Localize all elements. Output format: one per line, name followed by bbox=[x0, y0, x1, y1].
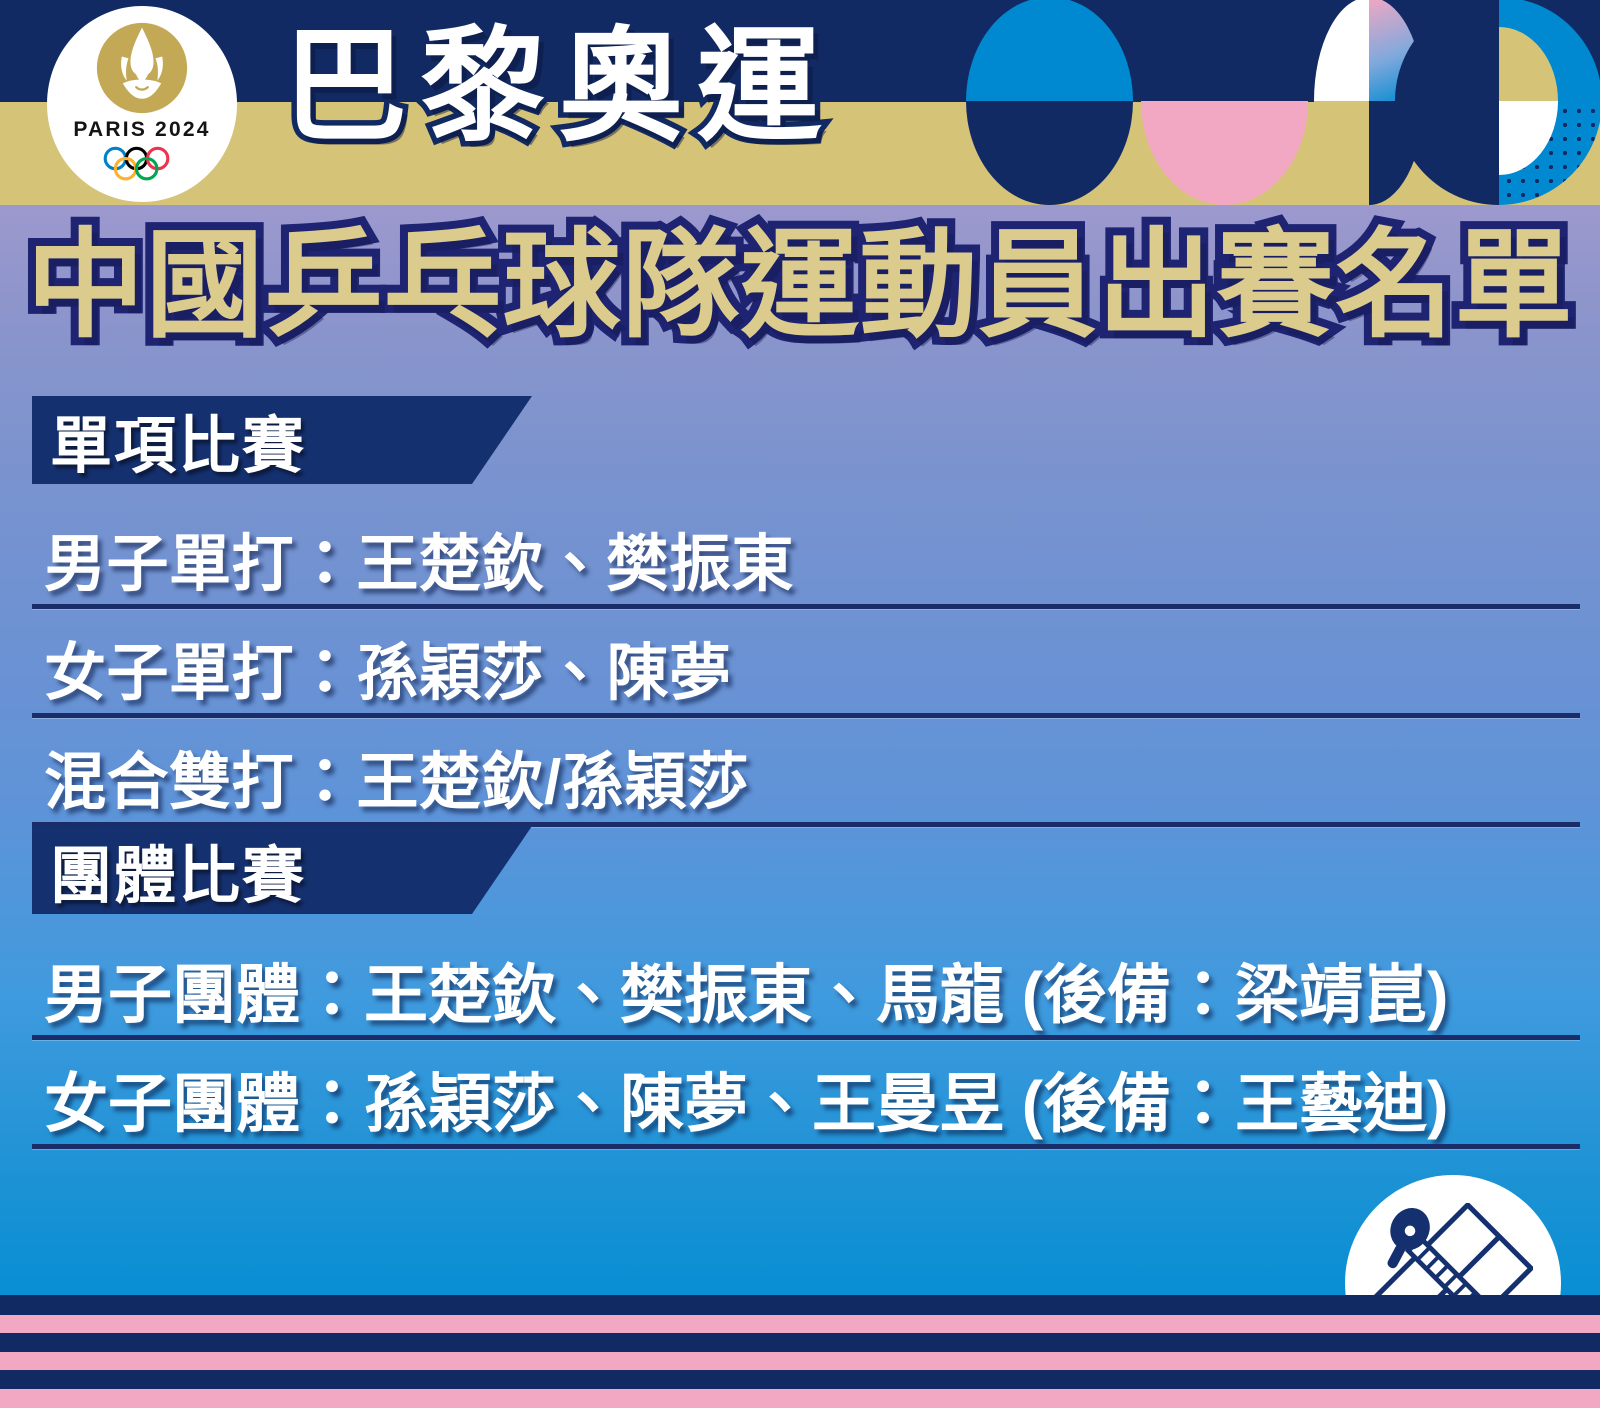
paris2024-logo: PARIS 2024 bbox=[47, 6, 237, 202]
list-item-womens-team: 女子團體：孫穎莎、陳夢、王曼昱 (後備：王藝迪) bbox=[44, 1053, 1448, 1145]
deco-circle-4-inner bbox=[1440, 27, 1558, 175]
page-title: 中國乒乓球隊運動員出賽名單 bbox=[0, 218, 1600, 355]
deco-circle-1 bbox=[966, 0, 1133, 205]
footer-stripes bbox=[0, 1295, 1600, 1408]
footer-stripe bbox=[0, 1352, 1600, 1370]
section-banner-label-individual: 單項比賽 bbox=[50, 395, 306, 485]
list-item-womens-singles: 女子單打：孫穎莎、陳夢 bbox=[44, 622, 732, 712]
header-band: PARIS 2024 巴黎奧運 bbox=[0, 0, 1600, 205]
poster-root: PARIS 2024 巴黎奧運 中國乒乓球隊運動員出賽名單 單項比賽 男子單打：… bbox=[0, 0, 1600, 1408]
row-divider bbox=[32, 1144, 1580, 1149]
decorative-circles bbox=[940, 0, 1600, 205]
paris2024-flame-icon bbox=[93, 20, 191, 116]
row-divider bbox=[32, 1035, 1580, 1040]
deco-circle-4 bbox=[1395, 0, 1600, 205]
row-divider bbox=[32, 713, 1580, 718]
section-banner-label-team: 團體比賽 bbox=[50, 825, 306, 915]
list-item-mixed-doubles: 混合雙打：王楚欽/孫穎莎 bbox=[44, 731, 749, 821]
footer-stripe bbox=[0, 1370, 1600, 1389]
list-item-mens-singles: 男子單打：王楚欽、樊振東 bbox=[44, 513, 794, 603]
header-wordmark: 巴黎奧運 bbox=[283, 16, 835, 159]
footer-stripe bbox=[0, 1295, 1600, 1315]
footer-stripe bbox=[0, 1315, 1600, 1333]
section-banner-individual: 單項比賽 bbox=[32, 396, 532, 484]
list-item-mens-team: 男子團體：王楚欽、樊振東、馬龍 (後備：梁靖崑) bbox=[44, 944, 1448, 1036]
deco-circle-2 bbox=[1141, 0, 1308, 205]
logo-brand-text: PARIS 2024 bbox=[73, 118, 210, 142]
section-banner-team: 團體比賽 bbox=[32, 826, 532, 914]
olympic-rings-icon bbox=[96, 146, 188, 182]
footer-stripe bbox=[0, 1333, 1600, 1352]
footer-stripe bbox=[0, 1389, 1600, 1408]
row-divider bbox=[32, 604, 1580, 609]
